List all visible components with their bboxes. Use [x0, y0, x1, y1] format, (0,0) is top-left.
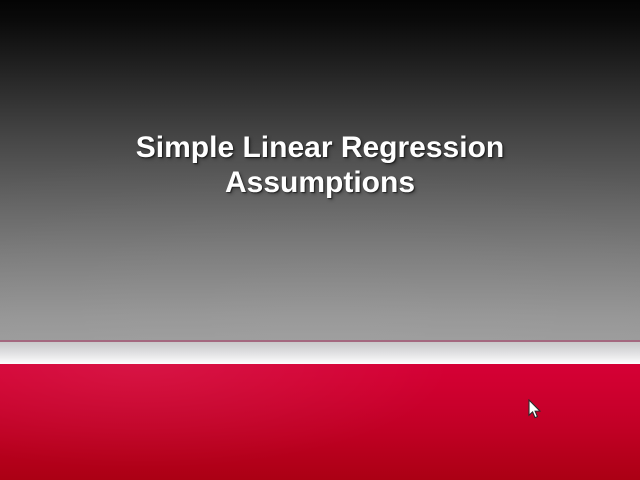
- slide-title-line-1: Simple Linear Regression: [0, 130, 640, 165]
- slide-footer-background: [0, 364, 640, 480]
- slide-title: Simple Linear Regression Assumptions: [0, 130, 640, 200]
- slide-title-line-2: Assumptions: [0, 165, 640, 200]
- presentation-slide: Simple Linear Regression Assumptions: [0, 0, 640, 480]
- divider-light-band: [0, 342, 640, 364]
